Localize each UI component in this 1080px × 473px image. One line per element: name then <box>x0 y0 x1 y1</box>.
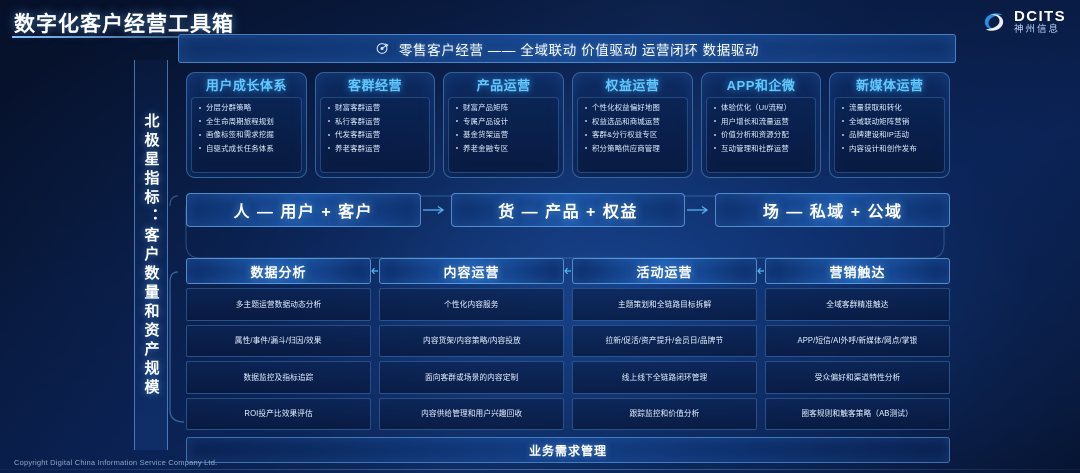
banner-text: 零售客户经营 —— 全域联动 价值驱动 运营闭环 数据驱动 <box>399 39 759 59</box>
pillar-item-label: 流量获取和转化 <box>849 101 902 115</box>
pillar-item-label: 养老客群运营 <box>335 142 380 156</box>
arrow-right-icon <box>421 204 451 216</box>
pillar-item-label: 基金货架运营 <box>463 128 508 142</box>
footer-divider <box>0 469 1080 470</box>
matrix-cell-label: 内容货架/内容策略/内容投放 <box>423 335 521 346</box>
pillar-items: 分层分群策略 全生命周期旅程规划 画像标签和需求挖掘 自驱式成长任务体系 <box>191 97 302 173</box>
pillar-card-user-growth[interactable]: 用户成长体系 分层分群策略 全生命周期旅程规划 画像标签和需求挖掘 自驱式成长任… <box>186 72 307 178</box>
bullet-icon <box>842 147 844 149</box>
matrix-cell-label: 内容供给管理和用户兴趣回收 <box>421 408 522 419</box>
arrow-left-icon <box>371 265 379 277</box>
arrow-right-icon <box>685 204 715 216</box>
matrix-column-campaign-ops: 活动运营 主题策划和全链路目标拆解 拉新/促活/资产提升/会员日/品牌节 线上线… <box>572 258 757 430</box>
matrix-cell[interactable]: 线上线下全链路闭环管理 <box>572 361 757 394</box>
matrix-cell-label: ROI投产比效果评估 <box>244 408 312 419</box>
bullet-icon <box>585 107 587 109</box>
matrix-cell[interactable]: 属性/事件/漏斗/归因/效果 <box>186 325 371 358</box>
bullet-icon <box>585 120 587 122</box>
arrow-left-icon <box>564 265 572 277</box>
flow-step-field[interactable]: 场 — 私域 + 公域 <box>715 193 950 227</box>
pillar-item-label: 个性化权益偏好地图 <box>592 101 660 115</box>
north-star-axis-text: 北极星指标：客户数量和资产规模 <box>141 113 162 398</box>
list-item: 专属产品设计 <box>452 115 556 129</box>
pillar-item-label: 分层分群策略 <box>206 101 251 115</box>
bullet-icon <box>456 107 458 109</box>
column-header-label: 数据分析 <box>250 262 306 281</box>
list-item: 分层分群策略 <box>195 101 299 115</box>
matrix-cell-label: APP/短信/AI外呼/新媒体/网点/掌银 <box>798 335 918 346</box>
bullet-icon <box>714 147 716 149</box>
matrix-cell[interactable]: 个性化内容服务 <box>379 288 564 321</box>
list-item: 积分策略供应商管理 <box>581 142 685 156</box>
pillar-card-rights-ops[interactable]: 权益运营 个性化权益偏好地图 权益选品和商城运营 客群&分行权益专区 积分策略供… <box>572 72 693 178</box>
list-item: 全生命周期旅程规划 <box>195 115 299 129</box>
list-item: 互动管理和社群运营 <box>710 142 814 156</box>
bullet-icon <box>328 147 330 149</box>
list-item: 画像标签和需求挖掘 <box>195 128 299 142</box>
matrix-column-content-ops: 内容运营 个性化内容服务 内容货架/内容策略/内容投放 面向客群或场景的内容定制… <box>379 258 564 430</box>
bullet-icon <box>714 134 716 136</box>
bullet-icon <box>842 107 844 109</box>
retail-customer-banner: 零售客户经营 —— 全域联动 价值驱动 运营闭环 数据驱动 <box>178 34 956 63</box>
matrix-column-marketing-reach: 营销触达 全域客群精准触达 APP/短信/AI外呼/新媒体/网点/掌银 受众偏好… <box>765 258 950 430</box>
pillar-card-customer-group[interactable]: 客群经营 财富客群运营 私行客群运营 代发客群运营 养老客群运营 <box>315 72 436 178</box>
pillar-item-label: 用户增长和流量运营 <box>721 115 789 129</box>
brand-logo: DCITS 神州信息 <box>981 9 1066 35</box>
list-item: 体验优化（UI/流程） <box>710 101 814 115</box>
list-item: 用户增长和流量运营 <box>710 115 814 129</box>
flow-row: 人 — 用户 + 客户 货 — 产品 + 权益 场 — 私域 + 公域 <box>186 193 950 227</box>
column-header-label: 营销触达 <box>829 262 885 281</box>
pillar-card-app-wecom[interactable]: APP和企微 体验优化（UI/流程） 用户增长和流量运营 价值分析和资源分配 互… <box>701 72 822 178</box>
arrow-left-icon <box>757 265 765 277</box>
matrix-cell[interactable]: 全域客群精准触达 <box>765 288 950 321</box>
pillar-card-product-ops[interactable]: 产品运营 财富产品矩阵 专属产品设计 基金货架运营 养老金融专区 <box>443 72 564 178</box>
list-item: 价值分析和资源分配 <box>710 128 814 142</box>
bullet-icon <box>199 134 201 136</box>
business-demand-bar[interactable]: 业务需求管理 <box>186 437 950 463</box>
column-header-label: 内容运营 <box>443 262 499 281</box>
matrix-cell-label: 属性/事件/漏斗/归因/效果 <box>235 335 322 346</box>
matrix-cell-label: 圈客规则和触客策略（AB测试） <box>802 408 914 419</box>
arrow-left-icon <box>178 265 186 277</box>
pillar-item-label: 养老金融专区 <box>463 142 508 156</box>
pillar-title: 用户成长体系 <box>191 78 302 94</box>
flow-step-label: 货 — 产品 + 权益 <box>498 198 638 222</box>
pillar-item-label: 专属产品设计 <box>463 115 508 129</box>
matrix-cell-label: 面向客群或场景的内容定制 <box>425 372 518 383</box>
pillar-items: 财富客群运营 私行客群运营 代发客群运营 养老客群运营 <box>320 97 431 173</box>
list-item: 品牌建设和IP活动 <box>838 128 942 142</box>
matrix-cell[interactable]: 圈客规则和触客策略（AB测试） <box>765 398 950 431</box>
pillar-title: 权益运营 <box>577 78 688 94</box>
pillar-items: 个性化权益偏好地图 权益选品和商城运营 客群&分行权益专区 积分策略供应商管理 <box>577 97 688 173</box>
pillar-item-label: 内容设计和创作发布 <box>849 142 917 156</box>
matrix-cell-label: 多主题运营数据动态分析 <box>236 299 322 310</box>
list-item: 自驱式成长任务体系 <box>195 142 299 156</box>
list-item: 个性化权益偏好地图 <box>581 101 685 115</box>
matrix-cell[interactable]: 内容供给管理和用户兴趣回收 <box>379 398 564 431</box>
bullet-icon <box>456 147 458 149</box>
column-header[interactable]: 内容运营 <box>379 258 564 284</box>
pillar-item-label: 私行客群运营 <box>335 115 380 129</box>
matrix-cell[interactable]: 多主题运营数据动态分析 <box>186 288 371 321</box>
bullet-icon <box>842 134 844 136</box>
pillar-item-label: 互动管理和社群运营 <box>721 142 789 156</box>
list-item: 内容设计和创作发布 <box>838 142 942 156</box>
flow-step-people[interactable]: 人 — 用户 + 客户 <box>186 193 421 227</box>
north-star-axis-label: 北极星指标：客户数量和资产规模 <box>134 60 168 450</box>
column-header-label: 活动运营 <box>636 262 692 281</box>
pillar-item-label: 全域联动矩阵营销 <box>849 115 909 129</box>
matrix-column-data-analysis: 数据分析 多主题运营数据动态分析 属性/事件/漏斗/归因/效果 数据监控及指标追… <box>186 258 371 430</box>
brand-name: DCITS <box>1014 9 1066 25</box>
column-header[interactable]: 活动运营 <box>572 258 757 284</box>
bullet-icon <box>328 107 330 109</box>
pillar-item-label: 积分策略供应商管理 <box>592 142 660 156</box>
list-item: 财富客群运营 <box>324 101 428 115</box>
pillar-item-label: 财富客群运营 <box>335 101 380 115</box>
brand-name-cn: 神州信息 <box>1014 25 1066 35</box>
dcits-swirl-icon <box>981 9 1007 35</box>
matrix-cell-label: 个性化内容服务 <box>444 299 498 310</box>
matrix-cell-label: 受众偏好和渠道特性分析 <box>815 372 901 383</box>
pillar-title: 客群经营 <box>320 78 431 94</box>
bullet-icon <box>585 147 587 149</box>
pillar-items: 财富产品矩阵 专属产品设计 基金货架运营 养老金融专区 <box>448 97 559 173</box>
pillar-item-label: 画像标签和需求挖掘 <box>206 128 274 142</box>
list-item: 客群&分行权益专区 <box>581 128 685 142</box>
matrix-cell[interactable]: ROI投产比效果评估 <box>186 398 371 431</box>
pillar-title: APP和企微 <box>706 78 817 94</box>
pillar-item-label: 价值分析和资源分配 <box>721 128 789 142</box>
column-header[interactable]: 营销触达 <box>765 258 950 284</box>
matrix-cell-label: 线上线下全链路闭环管理 <box>622 372 708 383</box>
bullet-icon <box>714 107 716 109</box>
flow-step-label: 场 — 私域 + 公域 <box>763 198 903 222</box>
pillar-items: 流量获取和转化 全域联动矩阵营销 品牌建设和IP活动 内容设计和创作发布 <box>834 97 945 173</box>
bullet-icon <box>328 120 330 122</box>
matrix-cell[interactable]: 主题策划和全链路目标拆解 <box>572 288 757 321</box>
list-item: 权益选品和商城运营 <box>581 115 685 129</box>
matrix-cell[interactable]: 跟踪监控和价值分析 <box>572 398 757 431</box>
list-item: 私行客群运营 <box>324 115 428 129</box>
list-item: 基金货架运营 <box>452 128 556 142</box>
matrix-cell[interactable]: APP/短信/AI外呼/新媒体/网点/掌银 <box>765 325 950 358</box>
matrix-cell[interactable]: 内容货架/内容策略/内容投放 <box>379 325 564 358</box>
bullet-icon <box>456 134 458 136</box>
pillar-item-label: 代发客群运营 <box>335 128 380 142</box>
pillar-item-label: 客群&分行权益专区 <box>592 128 657 142</box>
pillar-item-label: 财富产品矩阵 <box>463 101 508 115</box>
pillar-items: 体验优化（UI/流程） 用户增长和流量运营 价值分析和资源分配 互动管理和社群运… <box>706 97 817 173</box>
list-item: 财富产品矩阵 <box>452 101 556 115</box>
bullet-icon <box>842 120 844 122</box>
bullet-icon <box>328 134 330 136</box>
matrix-cell-label: 拉新/促活/资产提升/会员日/品牌节 <box>606 335 724 346</box>
pillar-cards: 用户成长体系 分层分群策略 全生命周期旅程规划 画像标签和需求挖掘 自驱式成长任… <box>186 72 950 178</box>
flow-step-label: 人 — 用户 + 客户 <box>234 198 374 222</box>
pillar-item-label: 品牌建设和IP活动 <box>849 128 909 142</box>
pillar-item-label: 权益选品和商城运营 <box>592 115 660 129</box>
copyright-text: Copyright Digital China Information Serv… <box>14 458 217 467</box>
bullet-icon <box>585 134 587 136</box>
matrix-cell-label: 全域客群精准触达 <box>826 299 888 310</box>
matrix-cell[interactable]: 数据监控及指标追踪 <box>186 361 371 394</box>
flow-step-goods[interactable]: 货 — 产品 + 权益 <box>451 193 686 227</box>
business-demand-label: 业务需求管理 <box>529 442 607 459</box>
matrix-cell-label: 跟踪监控和价值分析 <box>630 408 700 419</box>
list-item: 流量获取和转化 <box>838 101 942 115</box>
pillar-title: 产品运营 <box>448 78 559 94</box>
matrix-cell[interactable]: 面向客群或场景的内容定制 <box>379 361 564 394</box>
operations-matrix: 数据分析 多主题运营数据动态分析 属性/事件/漏斗/归因/效果 数据监控及指标追… <box>186 258 950 430</box>
list-item: 代发客群运营 <box>324 128 428 142</box>
target-refresh-icon <box>375 41 390 56</box>
pillar-item-label: 体验优化（UI/流程） <box>721 101 791 115</box>
pillar-title: 新媒体运营 <box>834 78 945 94</box>
pillar-card-new-media[interactable]: 新媒体运营 流量获取和转化 全域联动矩阵营销 品牌建设和IP活动 内容设计和创作… <box>829 72 950 178</box>
list-item: 养老客群运营 <box>324 142 428 156</box>
bullet-icon <box>199 107 201 109</box>
bullet-icon <box>456 120 458 122</box>
list-item: 养老金融专区 <box>452 142 556 156</box>
bullet-icon <box>199 120 201 122</box>
list-item: 全域联动矩阵营销 <box>838 115 942 129</box>
matrix-cell[interactable]: 拉新/促活/资产提升/会员日/品牌节 <box>572 325 757 358</box>
pillar-item-label: 全生命周期旅程规划 <box>206 115 274 129</box>
bullet-icon <box>714 120 716 122</box>
column-header[interactable]: 数据分析 <box>186 258 371 284</box>
matrix-cell-label: 数据监控及指标追踪 <box>244 372 314 383</box>
matrix-cell-label: 主题策划和全链路目标拆解 <box>618 299 711 310</box>
pillar-item-label: 自驱式成长任务体系 <box>206 142 274 156</box>
matrix-cell[interactable]: 受众偏好和渠道特性分析 <box>765 361 950 394</box>
bullet-icon <box>199 147 201 149</box>
